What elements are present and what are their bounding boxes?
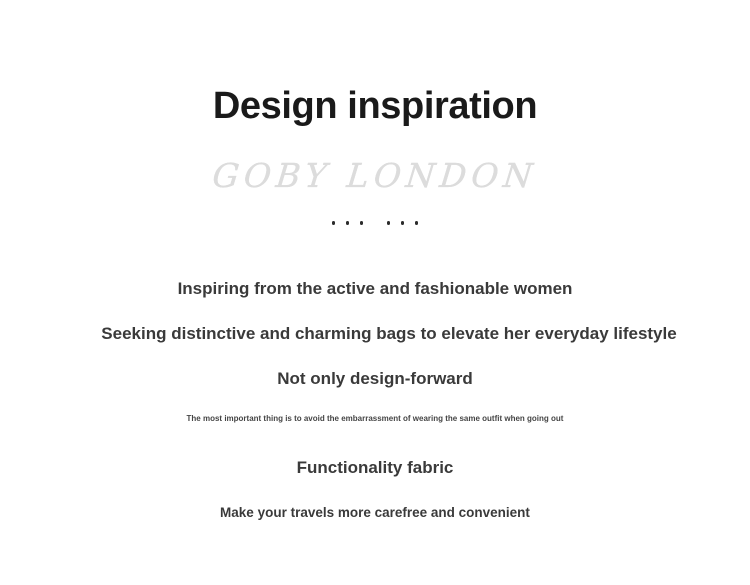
design-claim-text: Not only design-forward xyxy=(0,368,750,390)
fineprint-note-text: The most important thing is to avoid the… xyxy=(0,413,750,425)
dot-separator xyxy=(0,215,750,231)
fabric-claim-text: Functionality fabric xyxy=(0,457,750,479)
travel-benefit-text: Make your travels more carefree and conv… xyxy=(0,504,750,522)
dot-group-right xyxy=(384,215,421,231)
design-inspiration-banner: Design inspiration GOBY LONDON Inspiring… xyxy=(0,0,750,585)
separator-dot-icon xyxy=(387,221,391,225)
product-intent-text: Seeking distinctive and charming bags to… xyxy=(0,323,750,345)
page-title: Design inspiration xyxy=(0,83,750,129)
inspiration-source-text: Inspiring from the active and fashionabl… xyxy=(0,278,750,300)
separator-dot-icon xyxy=(332,221,336,225)
separator-dot-icon xyxy=(346,221,350,225)
separator-dot-icon xyxy=(415,221,419,225)
separator-dot-icon xyxy=(360,221,364,225)
dot-group-left xyxy=(329,215,366,231)
brand-wordmark: GOBY LONDON xyxy=(0,155,750,197)
separator-dot-icon xyxy=(401,221,405,225)
